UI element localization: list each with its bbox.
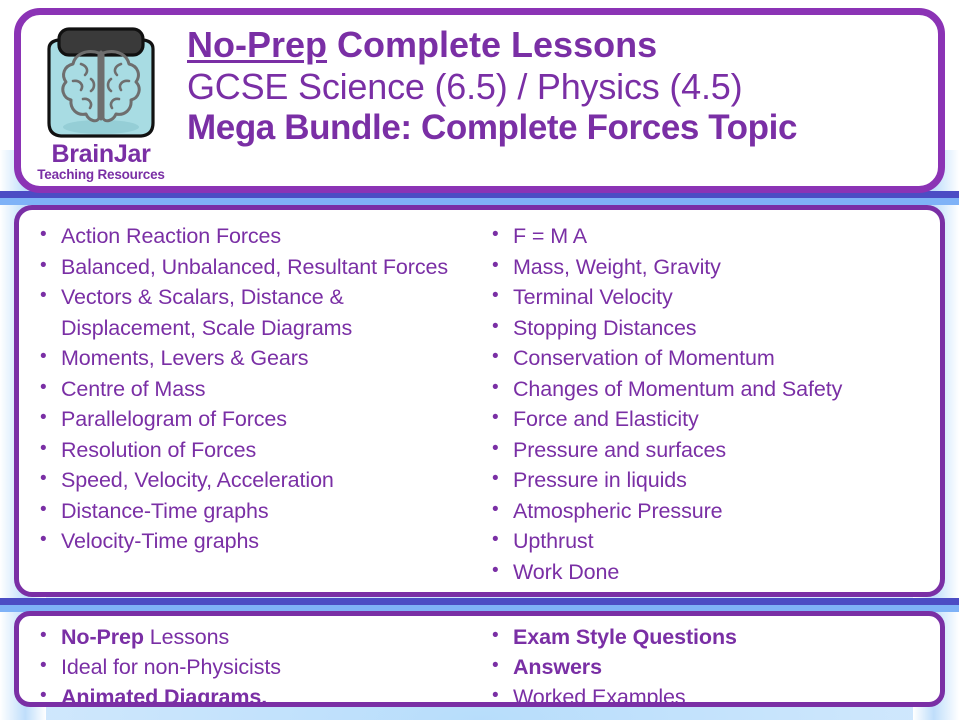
title-line-3: Mega Bundle: Complete Forces Topic (187, 108, 938, 149)
topics-column-right: F = M AMass, Weight, GravityTerminal Vel… (471, 221, 940, 592)
topics-column-left: Action Reaction ForcesBalanced, Unbalanc… (19, 221, 471, 592)
list-item-text: Worked Examples (513, 685, 686, 707)
list-item: Centre of Mass (31, 374, 471, 405)
list-item-bold: Animated Diagrams. (61, 685, 267, 707)
list-item: Force and Elasticity (483, 404, 940, 435)
list-item: Parallelogram of Forces (31, 404, 471, 435)
topics-panel: Action Reaction ForcesBalanced, Unbalanc… (14, 205, 945, 597)
list-item: Conservation of Momentum (483, 343, 940, 374)
features-list-left: No-Prep LessonsIdeal for non-PhysicistsA… (31, 622, 471, 707)
list-item: F = M A (483, 221, 940, 252)
list-item: Speed, Velocity, Acceleration (31, 465, 471, 496)
list-item-text: Lessons (144, 625, 229, 649)
brand-logo: BrainJar Teaching Resources (21, 15, 173, 183)
list-item: Ideal for non-Physicists (31, 652, 471, 682)
list-item: Exam Style Questions (483, 622, 940, 652)
title-block: No-Prep Complete Lessons GCSE Science (6… (173, 15, 938, 148)
topics-list-right: F = M AMass, Weight, GravityTerminal Vel… (483, 221, 940, 587)
list-item: Answers (483, 652, 940, 682)
list-item: Balanced, Unbalanced, Resultant Forces (31, 252, 471, 283)
list-item: Atmospheric Pressure (483, 496, 940, 527)
features-column-left: No-Prep LessonsIdeal for non-PhysicistsA… (19, 622, 471, 702)
list-item-bold: Answers (513, 655, 602, 679)
list-item: Changes of Momentum and Safety (483, 374, 940, 405)
brand-tagline: Teaching Resources (29, 168, 173, 183)
title-forces-topic: : Complete Forces Topic (400, 108, 797, 147)
title-mega-bundle: Mega Bundle (187, 108, 400, 147)
title-line-1: No-Prep Complete Lessons (187, 24, 938, 66)
title-complete-lessons: Complete Lessons (327, 24, 657, 65)
features-panel: No-Prep LessonsIdeal for non-PhysicistsA… (14, 611, 945, 707)
list-item-bold: No-Prep (61, 625, 144, 649)
features-list-right: Exam Style QuestionsAnswersWorked Exampl… (483, 622, 940, 707)
topics-list-left: Action Reaction ForcesBalanced, Unbalanc… (31, 221, 471, 557)
brand-name: BrainJar (29, 142, 173, 167)
list-item: Stopping Distances (483, 313, 940, 344)
divider-blue-upper (0, 198, 959, 205)
list-item: Animated Diagrams. (31, 682, 471, 707)
title-line-2: GCSE Science (6.5) / Physics (4.5) (187, 66, 938, 108)
brain-in-jar-icon (39, 19, 163, 143)
list-item: Work Done (483, 557, 940, 588)
list-item: Pressure in liquids (483, 465, 940, 496)
list-item: Distance-Time graphs (31, 496, 471, 527)
list-item: Worked Examples (483, 682, 940, 707)
list-item: Resolution of Forces (31, 435, 471, 466)
title-noprep: No-Prep (187, 24, 327, 65)
list-item: Action Reaction Forces (31, 221, 471, 252)
list-item: Upthrust (483, 526, 940, 557)
list-item-bold: Exam Style Questions (513, 625, 737, 649)
list-item: Vectors & Scalars, Distance & Displaceme… (31, 282, 471, 343)
list-item: No-Prep Lessons (31, 622, 471, 652)
divider-violet-lower (0, 598, 959, 605)
list-item: Pressure and surfaces (483, 435, 940, 466)
features-column-right: Exam Style QuestionsAnswersWorked Exampl… (471, 622, 940, 702)
list-item-text: Ideal for non-Physicists (61, 655, 281, 679)
list-item: Mass, Weight, Gravity (483, 252, 940, 283)
header-panel: BrainJar Teaching Resources No-Prep Comp… (14, 8, 945, 193)
list-item: Terminal Velocity (483, 282, 940, 313)
list-item: Velocity-Time graphs (31, 526, 471, 557)
list-item: Moments, Levers & Gears (31, 343, 471, 374)
poster-root: BrainJar Teaching Resources No-Prep Comp… (0, 0, 959, 720)
